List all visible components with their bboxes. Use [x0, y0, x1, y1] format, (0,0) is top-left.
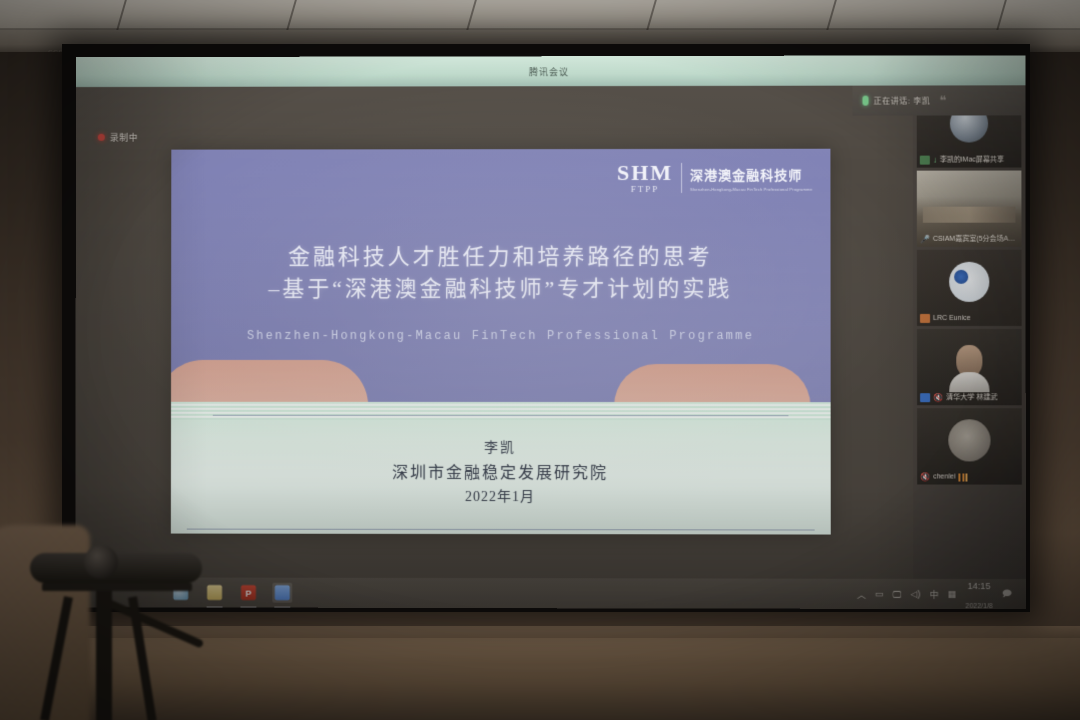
shared-content-stage: 录制中 SHM FTPP 深港澳金融科技师 Shenzhen-Hongkong-… [75, 86, 913, 579]
projected-meeting-screen[interactable]: 腾讯会议 录制中 SHM FTPP [75, 55, 1026, 609]
share-screen-icon [920, 155, 930, 164]
logo-en-name: Shenzhen-Hongkong-Macau FinTech Professi… [690, 187, 812, 192]
participant-label-row-1: 🎤 CSIAM嘉宾室(5分会场AD… [920, 234, 1019, 244]
slide-decoration: 李凯 深圳市金融稳定发展研究院 2022年1月 [171, 379, 831, 535]
meeting-body: 录制中 SHM FTPP 深港澳金融科技师 Shenzhen-Hongkong-… [75, 85, 1026, 579]
participant-tile-1[interactable]: 🎤 CSIAM嘉宾室(5分会场AD… [917, 171, 1022, 247]
logo-divider [681, 163, 682, 193]
participant-tile-4[interactable]: 🔇 chenlei [917, 408, 1022, 484]
taskbar-item-tencent-meeting[interactable] [272, 583, 292, 603]
participant-label-row-4: 🔇 chenlei [920, 472, 1019, 481]
display-icon[interactable]: 🖵 [893, 588, 902, 599]
taskbar-running-underline [274, 607, 290, 608]
tripod-center-column [96, 591, 112, 720]
audio-level-icon [959, 473, 968, 481]
conference-room-scene: SCREEN 腾讯会议 录制中 SHM F [0, 0, 1080, 720]
active-speaker-bar: 正在讲话: 李凯 ❝ [852, 85, 1025, 115]
logo-mark-text: SHM [617, 163, 673, 184]
participant-name-2: LRC Eunice [933, 315, 971, 322]
avatar-body [949, 372, 989, 392]
recording-label: 录制中 [110, 131, 138, 144]
participant-name-1: CSIAM嘉宾室(5分会场AD… [933, 234, 1019, 244]
ime-panel-icon[interactable]: ▦ [948, 588, 957, 599]
deco-shape-left [171, 360, 368, 406]
meeting-titlebar: 腾讯会议 [76, 55, 1025, 87]
slide-date: 2022年1月 [171, 486, 831, 511]
slide-subtitle: Shenzhen-Hongkong-Macau FinTech Professi… [171, 329, 831, 343]
participant-tile-2[interactable]: LRC Eunice [917, 250, 1022, 326]
volume-icon[interactable]: ◁) [911, 588, 921, 599]
logo-cn-name: 深港澳金融科技师 [690, 168, 802, 183]
tripod-leg-left [40, 596, 73, 720]
clock[interactable]: 14:15 2022/1/8 [965, 575, 992, 609]
participant-name-4: chenlei [933, 473, 955, 480]
slide-organization: 深圳市金融稳定发展研究院 [171, 460, 831, 486]
active-speaker-label: 正在讲话: 李凯 [874, 95, 931, 106]
quote-icon: ❝ [939, 92, 945, 108]
tripod-pan-handle [102, 597, 204, 648]
camera-lens [84, 545, 118, 579]
camera-on-tripod [18, 545, 268, 720]
slide-logo: SHM FTPP 深港澳金融科技师 Shenzhen-Hongkong-Maca… [617, 163, 812, 194]
clock-time: 14:15 [968, 581, 991, 591]
network-icon[interactable]: ▭ [875, 588, 884, 599]
slide-footer: 李凯 深圳市金融稳定发展研究院 2022年1月 [171, 437, 831, 511]
meeting-app-title: 腾讯会议 [529, 65, 569, 78]
slide-speaker: 李凯 [171, 437, 831, 461]
system-tray: ︿ ▭ 🖵 ◁) 中 ▦ 14:15 2022/1/8 🗩 [857, 575, 1026, 610]
slide-title-line2: –基于“深港澳金融科技师”专才计划的实践 [171, 273, 830, 305]
participant-name-3: 清华大学 林建武 [946, 392, 997, 402]
logo-submark-text: FTPP [617, 184, 673, 194]
ime-indicator[interactable]: 中 [930, 587, 939, 600]
tripod-plate [42, 583, 192, 591]
participant-rail: ↓ 李凯的iMac屏幕共享 🎤 CSIAM嘉宾室(5分会场AD… [913, 85, 1026, 579]
mic-icon [862, 96, 868, 106]
tencent-meeting-icon [275, 585, 290, 600]
presentation-slide: SHM FTPP 深港澳金融科技师 Shenzhen-Hongkong-Maca… [171, 149, 831, 535]
slide-title-line1: 金融科技人才胜任力和培养路径的思考 [171, 241, 830, 273]
participant-label-row-3: 🔇 清华大学 林建武 [920, 392, 1019, 402]
clock-date: 2022/1/8 [965, 603, 992, 609]
record-dot-icon [98, 134, 105, 141]
logo-shm-mark: SHM FTPP [617, 163, 673, 194]
participant-label-row-2: LRC Eunice [920, 314, 1019, 323]
person-icon [920, 393, 930, 402]
mic-muted-icon: 🔇 [920, 472, 930, 481]
deco-shape-right [614, 364, 811, 406]
mic-muted-icon: 🔇 [933, 393, 943, 402]
slide-title: 金融科技人才胜任力和培养路径的思考 –基于“深港澳金融科技师”专才计划的实践 [171, 241, 830, 305]
person-icon [920, 314, 930, 323]
avatar-logo-glyph [954, 270, 968, 284]
mic-icon: ↓ [933, 155, 937, 164]
participant-tile-3[interactable]: 🔇 清华大学 林建武 [917, 329, 1022, 405]
recording-indicator: 录制中 [98, 131, 138, 144]
notifications-icon[interactable]: 🗩 [1002, 586, 1012, 602]
mic-icon: 🎤 [920, 234, 930, 243]
logo-cn-block: 深港澳金融科技师 Shenzhen-Hongkong-Macau FinTech… [690, 165, 812, 192]
participant-name-0: 李凯的iMac屏幕共享 [940, 154, 1004, 164]
participant-label-row-0: ↓ 李凯的iMac屏幕共享 [920, 154, 1019, 164]
avatar [948, 419, 990, 461]
chevron-up-icon[interactable]: ︿ [857, 587, 866, 600]
